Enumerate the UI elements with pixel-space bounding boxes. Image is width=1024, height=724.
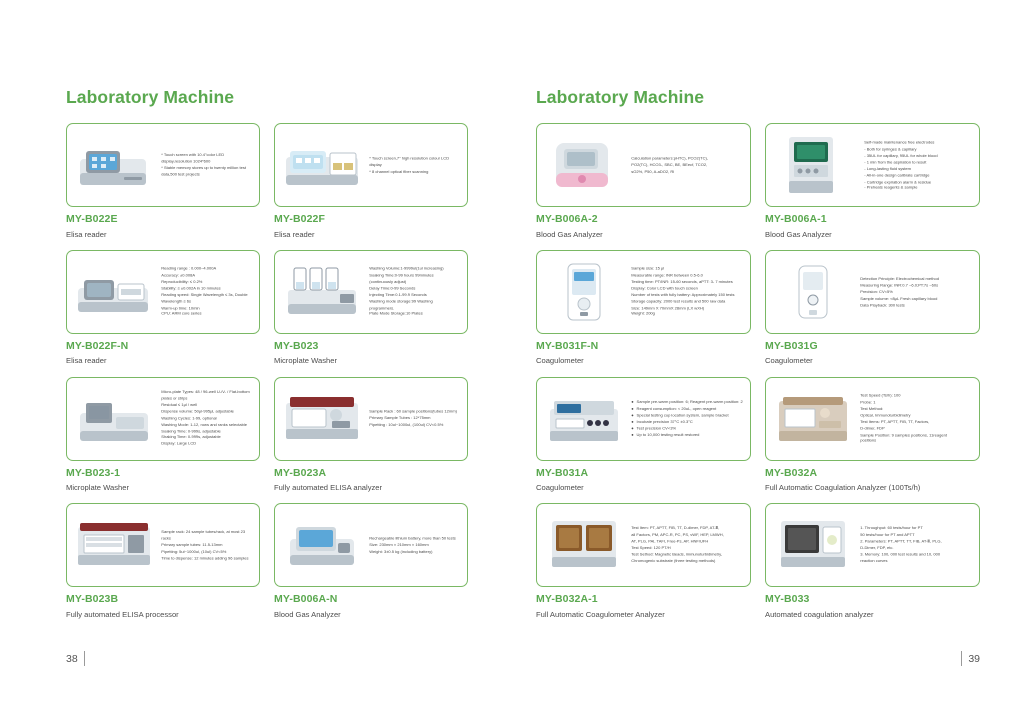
spec-line: - All-in-one design calibrate cartridge bbox=[860, 172, 980, 178]
product-card: Micro-plate Types: 48 / 96-well U-/V- / … bbox=[66, 377, 260, 461]
product-name: Fully automated ELISA processor bbox=[66, 610, 260, 619]
spec-line: Calculation parameters:pHTC), PCO2(TC), bbox=[631, 155, 751, 161]
spec-line: Weight: 200g bbox=[631, 311, 751, 317]
product-code: MY-B006A-2 bbox=[536, 214, 751, 226]
product-item[interactable]: Test Item: PT, APTT, FIB, TT, D-dimer, F… bbox=[536, 503, 751, 619]
spec-line: Reading speed: Single Wavelength ≤ 3s, D… bbox=[161, 292, 260, 298]
product-name: Fully automated ELISA analyzer bbox=[274, 483, 468, 492]
product-card: Sample pre-warm position: 6; Reagent pre… bbox=[536, 377, 751, 461]
product-specs: Test Item: PT, APTT, FIB, TT, D-dimer, F… bbox=[626, 526, 751, 565]
coagulometer-handheld-icon bbox=[542, 256, 626, 328]
product-specs: Sample Rack : 60 sample positions(tubes … bbox=[364, 409, 468, 428]
spec-line: Probe: 1 bbox=[860, 399, 980, 405]
spec-line: Rechargeable lithium battery, more than … bbox=[369, 535, 468, 541]
catalog-page-right: Laboratory Machine Calculation parameter… bbox=[512, 0, 1024, 724]
spec-line: Sample rack: 24 sample tubes/rack, at mo… bbox=[161, 529, 260, 535]
spec-line: - 1 min from the aspiration to result bbox=[860, 159, 980, 165]
product-item[interactable]: Detection Principle: Electrochemical met… bbox=[765, 250, 980, 366]
product-specs: Washing Volume:1-9999ul(1ul increasing)S… bbox=[364, 266, 468, 318]
product-name: Blood Gas Analyzer bbox=[536, 230, 751, 239]
page-number: 39 bbox=[968, 653, 980, 665]
product-name: Blood Gas Analyzer bbox=[765, 230, 980, 239]
spec-line: PO2(TC), HCO3-, SBC, BE, BEecf, TCO2, bbox=[631, 162, 751, 168]
product-code: MY-B006A-N bbox=[274, 594, 468, 606]
spec-line: Up to 10,000 testing result restored bbox=[631, 432, 751, 438]
coagulometer-bench-icon bbox=[542, 383, 626, 455]
product-code: MY-B023A bbox=[274, 468, 468, 480]
spec-line: - Cartridge expiration alarm & residue bbox=[860, 178, 980, 184]
page-number: 38 bbox=[66, 653, 78, 665]
product-code: MY-B031A bbox=[536, 468, 751, 480]
page-footer-right: 39 bbox=[961, 651, 980, 666]
product-name: Microplate Washer bbox=[274, 356, 468, 365]
spec-line: Primary sample tubes: 11.5-13mm bbox=[161, 542, 260, 548]
product-specs: Calculation parameters:pHTC), PCO2(TC),P… bbox=[626, 155, 751, 174]
product-name: Automated coagulation analyzer bbox=[765, 610, 980, 619]
product-name: Full Automatic Coagulation Analyzer (100… bbox=[765, 483, 980, 492]
spec-line: Incubate precision 37°C ±0.3°C bbox=[631, 419, 751, 425]
product-code: MY-B022E bbox=[66, 214, 260, 226]
elisa-reader-compact-icon bbox=[72, 256, 156, 328]
product-card: 1. Throughput: 60 tests/hour for PT50 te… bbox=[765, 503, 980, 587]
spec-line: display bbox=[369, 162, 468, 168]
product-specs: Rechargeable lithium battery, more than … bbox=[364, 535, 468, 554]
product-card: Test Speed (Ts/h): 100Probe: 1Test Metho… bbox=[765, 377, 980, 461]
product-name: Coagulometer bbox=[765, 356, 980, 365]
product-code: MY-B032A bbox=[765, 468, 980, 480]
product-code: MY-B022F-N bbox=[66, 341, 260, 353]
product-name: Full Automatic Coagulometer Analyzer bbox=[536, 610, 751, 619]
elisa-reader-plate-icon bbox=[280, 129, 364, 201]
spec-line: Number of tests with fully battery: Appr… bbox=[631, 292, 751, 298]
product-card: Test Item: PT, APTT, FIB, TT, D-dimer, F… bbox=[536, 503, 751, 587]
spec-line: - Long-lasting fluid system bbox=[860, 165, 980, 171]
microplate-washer-compact-icon bbox=[72, 383, 156, 455]
spec-line: Time to dispense: 12 minutes adding 96 s… bbox=[161, 555, 260, 561]
page-title: Laboratory Machine bbox=[536, 88, 980, 107]
product-card: * Touch screen with 10.4"color LEDdispla… bbox=[66, 123, 260, 207]
blood-gas-portable-icon bbox=[280, 509, 364, 581]
product-name: Coagulometer bbox=[536, 356, 751, 365]
product-card: Sample size: 15 μlMeasurable range: INR … bbox=[536, 250, 751, 334]
spec-line: - 35UL for capillary, 95UL for whole blo… bbox=[860, 152, 980, 158]
spec-line: Special testing cup location system, sam… bbox=[631, 412, 751, 418]
product-card: Calculation parameters:pHTC), PCO2(TC),P… bbox=[536, 123, 751, 207]
elisa-analyzer-icon bbox=[280, 383, 364, 455]
product-item[interactable]: Sample Rack : 60 sample positions(tubes … bbox=[274, 377, 468, 493]
spec-line: Display: Large LCD bbox=[161, 441, 260, 447]
product-item[interactable]: Sample rack: 24 sample tubes/rack, at mo… bbox=[66, 503, 260, 619]
spec-line: Precision: CV<5% bbox=[860, 289, 980, 295]
automated-coagulation-icon bbox=[771, 509, 855, 581]
product-item[interactable]: * Touch screen,7" high resolution colour… bbox=[274, 123, 468, 239]
product-specs: Micro-plate Types: 48 / 96-well U-/V- / … bbox=[156, 389, 260, 447]
spec-line: Test precision CV<3% bbox=[631, 425, 751, 431]
product-code: MY-B006A-1 bbox=[765, 214, 980, 226]
product-specs: Reading range : 0.000~4.000AAccuracy: ±0… bbox=[156, 266, 260, 318]
catalog-page-left: Laboratory Machine * Touch screen with 1… bbox=[0, 0, 512, 724]
product-code: MY-B023 bbox=[274, 341, 468, 353]
coagulometer-analyzer-full-icon bbox=[542, 509, 626, 581]
coagulation-analyzer-icon bbox=[771, 383, 855, 455]
spec-line: D-dimer, FDP bbox=[860, 425, 980, 431]
product-card: Reading range : 0.000~4.000AAccuracy: ±0… bbox=[66, 250, 260, 334]
spec-line: Test Items: PT, APTT, FIB, TT, Factors, bbox=[860, 419, 980, 425]
product-item[interactable]: Calculation parameters:pHTC), PCO2(TC),P… bbox=[536, 123, 751, 239]
product-name: Blood Gas Analyzer bbox=[274, 610, 468, 619]
product-card: Sample rack: 24 sample tubes/rack, at mo… bbox=[66, 503, 260, 587]
coagulometer-meter-icon bbox=[771, 256, 855, 328]
spec-line: positions bbox=[860, 438, 980, 444]
product-card: Rechargeable lithium battery, more than … bbox=[274, 503, 468, 587]
page-footer-left: 38 bbox=[66, 651, 85, 666]
product-name: Elisa reader bbox=[66, 230, 260, 239]
spec-line: Test Method: bbox=[860, 406, 980, 412]
blood-gas-analyzer-icon bbox=[542, 129, 626, 201]
spec-line: Optical, Immunoturbidimetry bbox=[860, 412, 980, 418]
spec-line: Weight: 3±0.5 kg (including battery) bbox=[369, 548, 468, 554]
product-item[interactable]: * Touch screen with 10.4"color LEDdispla… bbox=[66, 123, 260, 239]
spec-line: - Preheats reagents & sample bbox=[860, 185, 980, 191]
spec-line: Size: 230mm × 210mm × 160mm bbox=[369, 542, 468, 548]
spec-line: Reagent consumption: < 20uL, open reagen… bbox=[631, 406, 751, 412]
product-name: Elisa reader bbox=[274, 230, 468, 239]
page-title: Laboratory Machine bbox=[66, 88, 468, 107]
spec-line: racks bbox=[161, 535, 260, 541]
spec-line: Sample pre-warm position: 6; Reagent pre… bbox=[631, 399, 751, 405]
elisa-reader-icon bbox=[72, 129, 156, 201]
product-specs: Sample pre-warm position: 6; Reagent pre… bbox=[626, 399, 751, 438]
spec-line: - Both for syringes & capillary bbox=[860, 146, 980, 152]
spec-line: reaction curves bbox=[860, 558, 980, 564]
product-grid-left: * Touch screen with 10.4"color LEDdispla… bbox=[66, 123, 468, 630]
product-item[interactable]: Rechargeable lithium battery, more than … bbox=[274, 503, 468, 619]
spec-line: Plate Mode Storage:10 Plates bbox=[369, 311, 468, 317]
product-grid-right: Calculation parameters:pHTC), PCO2(TC),P… bbox=[536, 123, 980, 630]
product-code: MY-B022F bbox=[274, 214, 468, 226]
spec-line: Pipetting : 10ul~1000ul, (100ul) CV<0.5% bbox=[369, 422, 468, 428]
spec-line: Washing Mode: 1-12, rows and ranks selec… bbox=[161, 422, 260, 428]
product-item[interactable]: Sample size: 15 μlMeasurable range: INR … bbox=[536, 250, 751, 366]
spec-line: Sample volume: ≈8μL Fresh capillary bloo… bbox=[860, 295, 980, 301]
product-name: Microplate Washer bbox=[66, 483, 260, 492]
product-card: Washing Volume:1-9999ul(1ul increasing)S… bbox=[274, 250, 468, 334]
product-code: MY-B033 bbox=[765, 594, 980, 606]
spec-line: * Touch screen,7" high resolution colour… bbox=[369, 155, 468, 161]
product-card: Self-made maintenance free electrodes- B… bbox=[765, 123, 980, 207]
spec-line: sO2%, P50, A-aDO2, RI bbox=[631, 168, 751, 174]
product-specs: Test Speed (Ts/h): 100Probe: 1Test Metho… bbox=[855, 393, 980, 445]
spec-line: Chromogenic substrate (three testing met… bbox=[631, 558, 751, 564]
product-specs: Self-made maintenance free electrodes- B… bbox=[855, 139, 980, 191]
microplate-washer-icon bbox=[280, 256, 364, 328]
product-code: MY-B023-1 bbox=[66, 468, 260, 480]
product-card: * Touch screen,7" high resolution colour… bbox=[274, 123, 468, 207]
elisa-processor-icon bbox=[72, 509, 156, 581]
product-item[interactable]: Washing Volume:1-9999ul(1ul increasing)S… bbox=[274, 250, 468, 366]
spec-line: CPU: ARM core series bbox=[161, 311, 260, 317]
product-specs: * Touch screen with 10.4"color LEDdispla… bbox=[156, 152, 260, 178]
page-number-divider bbox=[961, 651, 962, 666]
spec-line: Pipetting: 5ul~1000ul, (10ul) CV<5% bbox=[161, 548, 260, 554]
product-code: MY-B031G bbox=[765, 341, 980, 353]
product-code: MY-B031F-N bbox=[536, 341, 751, 353]
product-item[interactable]: Micro-plate Types: 48 / 96-well U-/V- / … bbox=[66, 377, 260, 493]
product-specs: 1. Throughput: 60 tests/hour for PT50 te… bbox=[855, 526, 980, 565]
spec-line: Measuring Range: INR:0.7 ~6.0;PT:7s ~60s bbox=[860, 282, 980, 288]
catalog-spread: Laboratory Machine * Touch screen with 1… bbox=[0, 0, 1024, 724]
product-specs: Detection Principle: Electrochemical met… bbox=[855, 276, 980, 308]
product-specs: * Touch screen,7" high resolution colour… bbox=[364, 155, 468, 174]
spec-line: Data Playback: 300 tests bbox=[860, 302, 980, 308]
product-name: Coagulometer bbox=[536, 483, 751, 492]
spec-line: Self-made maintenance free electrodes bbox=[860, 139, 980, 145]
product-card: Sample Rack : 60 sample positions(tubes … bbox=[274, 377, 468, 461]
product-item[interactable]: 1. Throughput: 60 tests/hour for PT50 te… bbox=[765, 503, 980, 619]
product-code: MY-B032A-1 bbox=[536, 594, 751, 606]
product-item[interactable]: Sample pre-warm position: 6; Reagent pre… bbox=[536, 377, 751, 493]
product-code: MY-B023B bbox=[66, 594, 260, 606]
product-specs: Sample size: 15 μlMeasurable range: INR … bbox=[626, 266, 751, 318]
product-specs: Sample rack: 24 sample tubes/rack, at mo… bbox=[156, 529, 260, 561]
spec-line: Sample Position: 9 samples positions, 11… bbox=[860, 432, 980, 438]
product-name: Elisa reader bbox=[66, 356, 260, 365]
product-card: Detection Principle: Electrochemical met… bbox=[765, 250, 980, 334]
product-item[interactable]: Reading range : 0.000~4.000AAccuracy: ±0… bbox=[66, 250, 260, 366]
spec-line: data,500 test projects bbox=[161, 172, 260, 178]
page-number-divider bbox=[84, 651, 85, 666]
spec-line: Detection Principle: Electrochemical met… bbox=[860, 276, 980, 282]
product-item[interactable]: Test Speed (Ts/h): 100Probe: 1Test Metho… bbox=[765, 377, 980, 493]
spec-line: Test Speed (Ts/h): 100 bbox=[860, 393, 980, 399]
blood-gas-console-icon bbox=[771, 129, 855, 201]
spec-line: * 8 channel optical fiber scanning bbox=[369, 168, 468, 174]
product-item[interactable]: Self-made maintenance free electrodes- B… bbox=[765, 123, 980, 239]
